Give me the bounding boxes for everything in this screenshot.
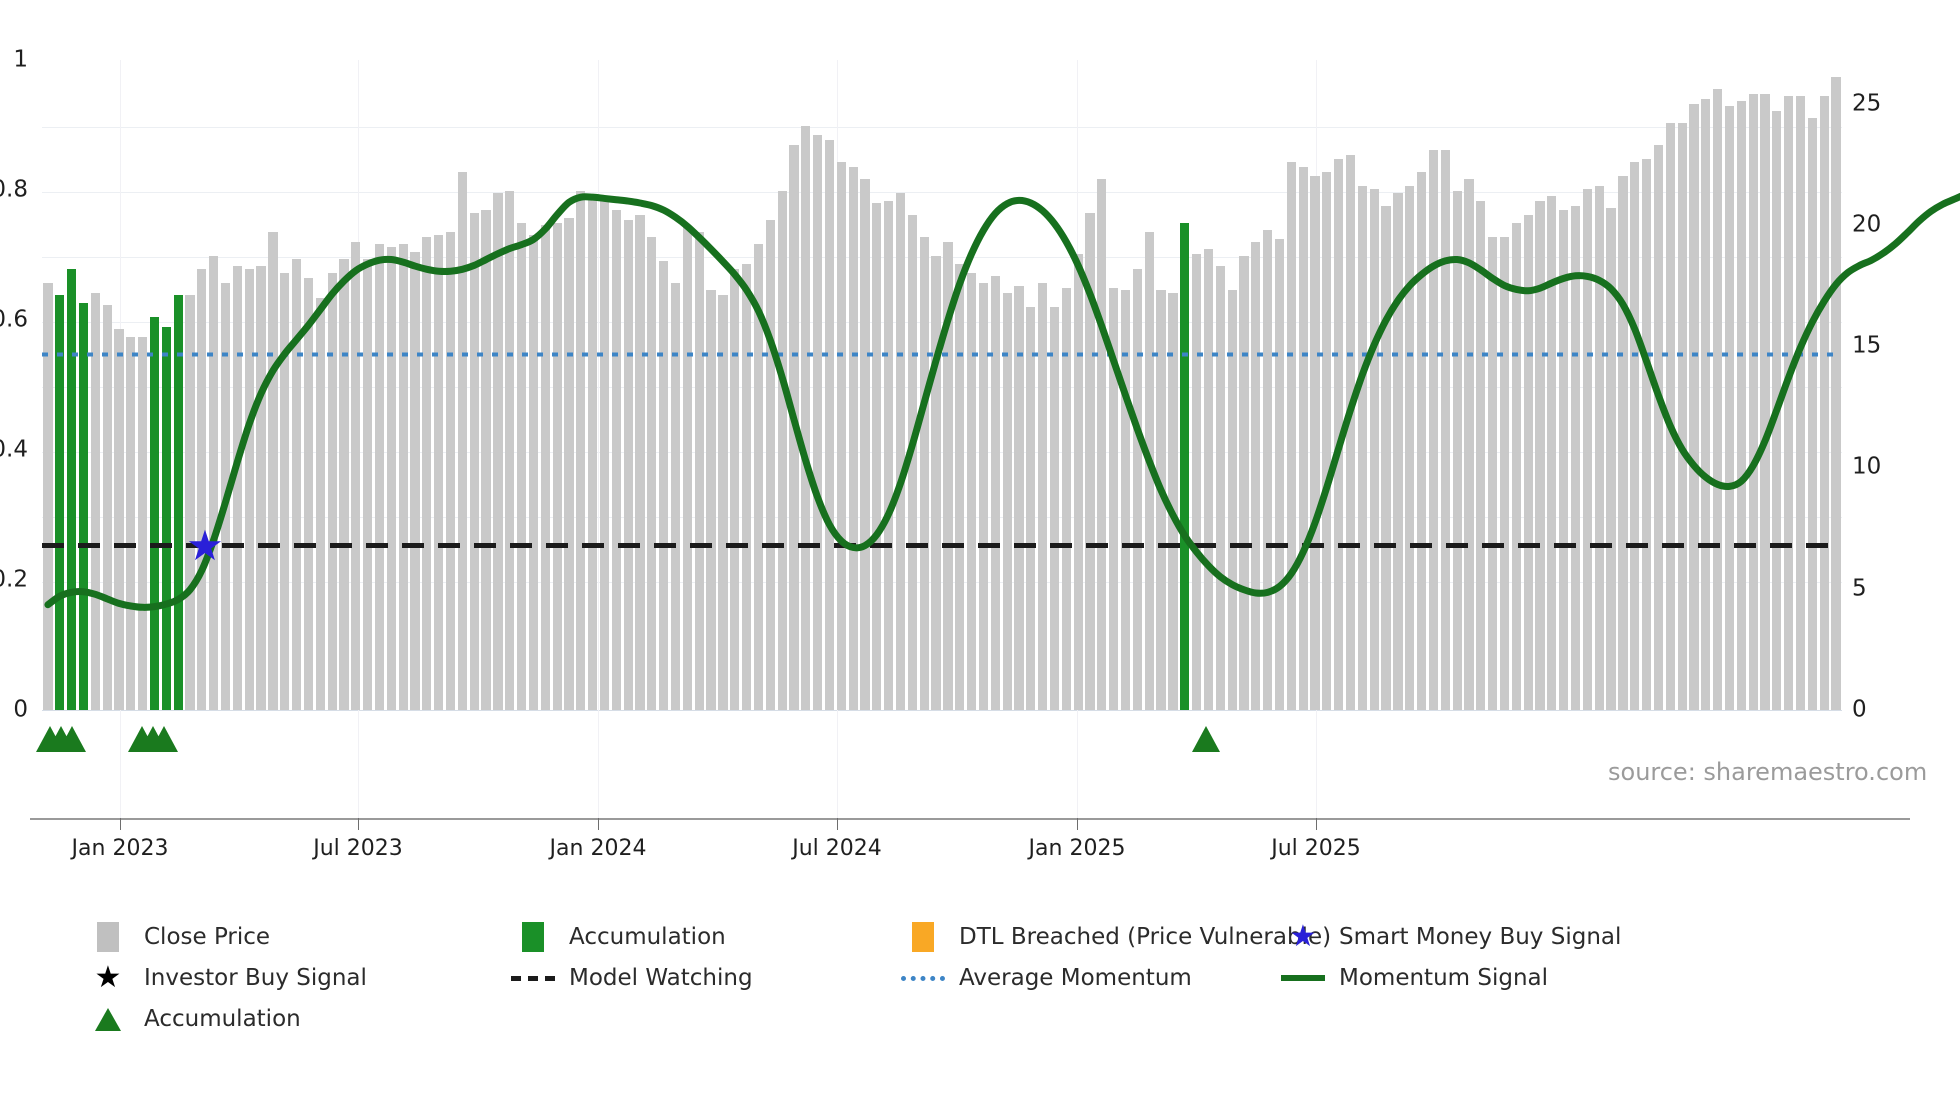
y-right-tick-label: 25 xyxy=(1852,92,1881,115)
legend-item-label: Momentum Signal xyxy=(1339,965,1548,991)
y-right-tick-label: 5 xyxy=(1852,577,1867,600)
legend-item-label: Close Price xyxy=(144,924,270,950)
x-tick-label: Jul 2025 xyxy=(1271,836,1361,861)
legend-item-label: Model Watching xyxy=(569,965,753,991)
baseline xyxy=(42,710,1842,711)
x-tick-label: Jul 2023 xyxy=(313,836,403,861)
legend-item[interactable]: Close Price xyxy=(86,922,270,952)
lines-layer xyxy=(42,60,1842,710)
x-tick xyxy=(598,818,599,830)
legend-item-label: DTL Breached (Price Vulnerable) xyxy=(959,924,1331,950)
x-tick xyxy=(358,818,359,830)
y-right-tick-label: 15 xyxy=(1852,335,1881,358)
legend-row: ★Investor Buy SignalModel WatchingAverag… xyxy=(86,959,1886,997)
close-price-swatch xyxy=(86,922,130,952)
legend-item[interactable]: ★Investor Buy Signal xyxy=(86,963,367,993)
accumulation-triangle-icon xyxy=(1192,726,1220,752)
x-axis-line xyxy=(30,818,1910,820)
smart-money-buy-signal-star-icon: ★ xyxy=(186,525,224,567)
legend-item-label: Investor Buy Signal xyxy=(144,965,367,991)
source-note: source: sharemaestro.com xyxy=(1608,758,1927,786)
y-left-tick-label: 1 xyxy=(13,49,28,72)
average-momentum-line-swatch xyxy=(901,976,945,981)
y-left-tick-label: 0.2 xyxy=(0,569,28,592)
legend-item-label: Average Momentum xyxy=(959,965,1192,991)
y-right-tick-label: 20 xyxy=(1852,213,1881,236)
x-tick-label: Jan 2024 xyxy=(550,836,647,861)
y-right-tick-label: 10 xyxy=(1852,456,1881,479)
accumulation-triangle-icon xyxy=(58,726,86,752)
y-right-tick-label: 0 xyxy=(1852,699,1867,722)
legend-item-label: Accumulation xyxy=(144,1006,301,1032)
legend-item-label: Accumulation xyxy=(569,924,726,950)
y-left-tick-label: 0.8 xyxy=(0,179,28,202)
y-left-tick-label: 0.4 xyxy=(0,439,28,462)
legend-item[interactable]: Model Watching xyxy=(511,965,753,991)
model-watching-line-swatch xyxy=(511,976,555,981)
smart-money-star-icon: ★ xyxy=(1281,922,1325,952)
x-tick xyxy=(120,818,121,830)
x-tick xyxy=(837,818,838,830)
accumulation-swatch xyxy=(511,922,555,952)
x-tick xyxy=(1316,818,1317,830)
dtl-breached-swatch xyxy=(901,922,945,952)
legend-item[interactable]: DTL Breached (Price Vulnerable) xyxy=(901,922,1331,952)
legend-item[interactable]: Average Momentum xyxy=(901,965,1192,991)
momentum-signal-line-swatch xyxy=(1281,975,1325,981)
legend-item[interactable]: ★Smart Money Buy Signal xyxy=(1281,922,1621,952)
x-tick-label: Jul 2024 xyxy=(792,836,882,861)
x-tick xyxy=(1077,818,1078,830)
y-left-tick-label: 0 xyxy=(13,699,28,722)
investor-buy-star-icon: ★ xyxy=(86,963,130,993)
accumulation-triangle-icon xyxy=(150,726,178,752)
legend-item[interactable]: Accumulation xyxy=(511,922,726,952)
legend-item[interactable]: Momentum Signal xyxy=(1281,965,1548,991)
x-tick-label: Jan 2023 xyxy=(72,836,169,861)
x-tick-label: Jan 2025 xyxy=(1029,836,1126,861)
legend-row: Accumulation xyxy=(86,1000,1886,1038)
chart-legend: Close PriceAccumulationDTL Breached (Pri… xyxy=(86,918,1886,1041)
plot-area xyxy=(42,60,1842,710)
legend-row: Close PriceAccumulationDTL Breached (Pri… xyxy=(86,918,1886,956)
momentum-chart: 00.20.40.60.81 0510152025 ★ Jan 2023Jul … xyxy=(0,0,1960,1102)
y-left-tick-label: 0.6 xyxy=(0,309,28,332)
accumulation-triangle-icon xyxy=(86,1008,130,1031)
legend-item-label: Smart Money Buy Signal xyxy=(1339,924,1621,950)
legend-item[interactable]: Accumulation xyxy=(86,1006,301,1032)
